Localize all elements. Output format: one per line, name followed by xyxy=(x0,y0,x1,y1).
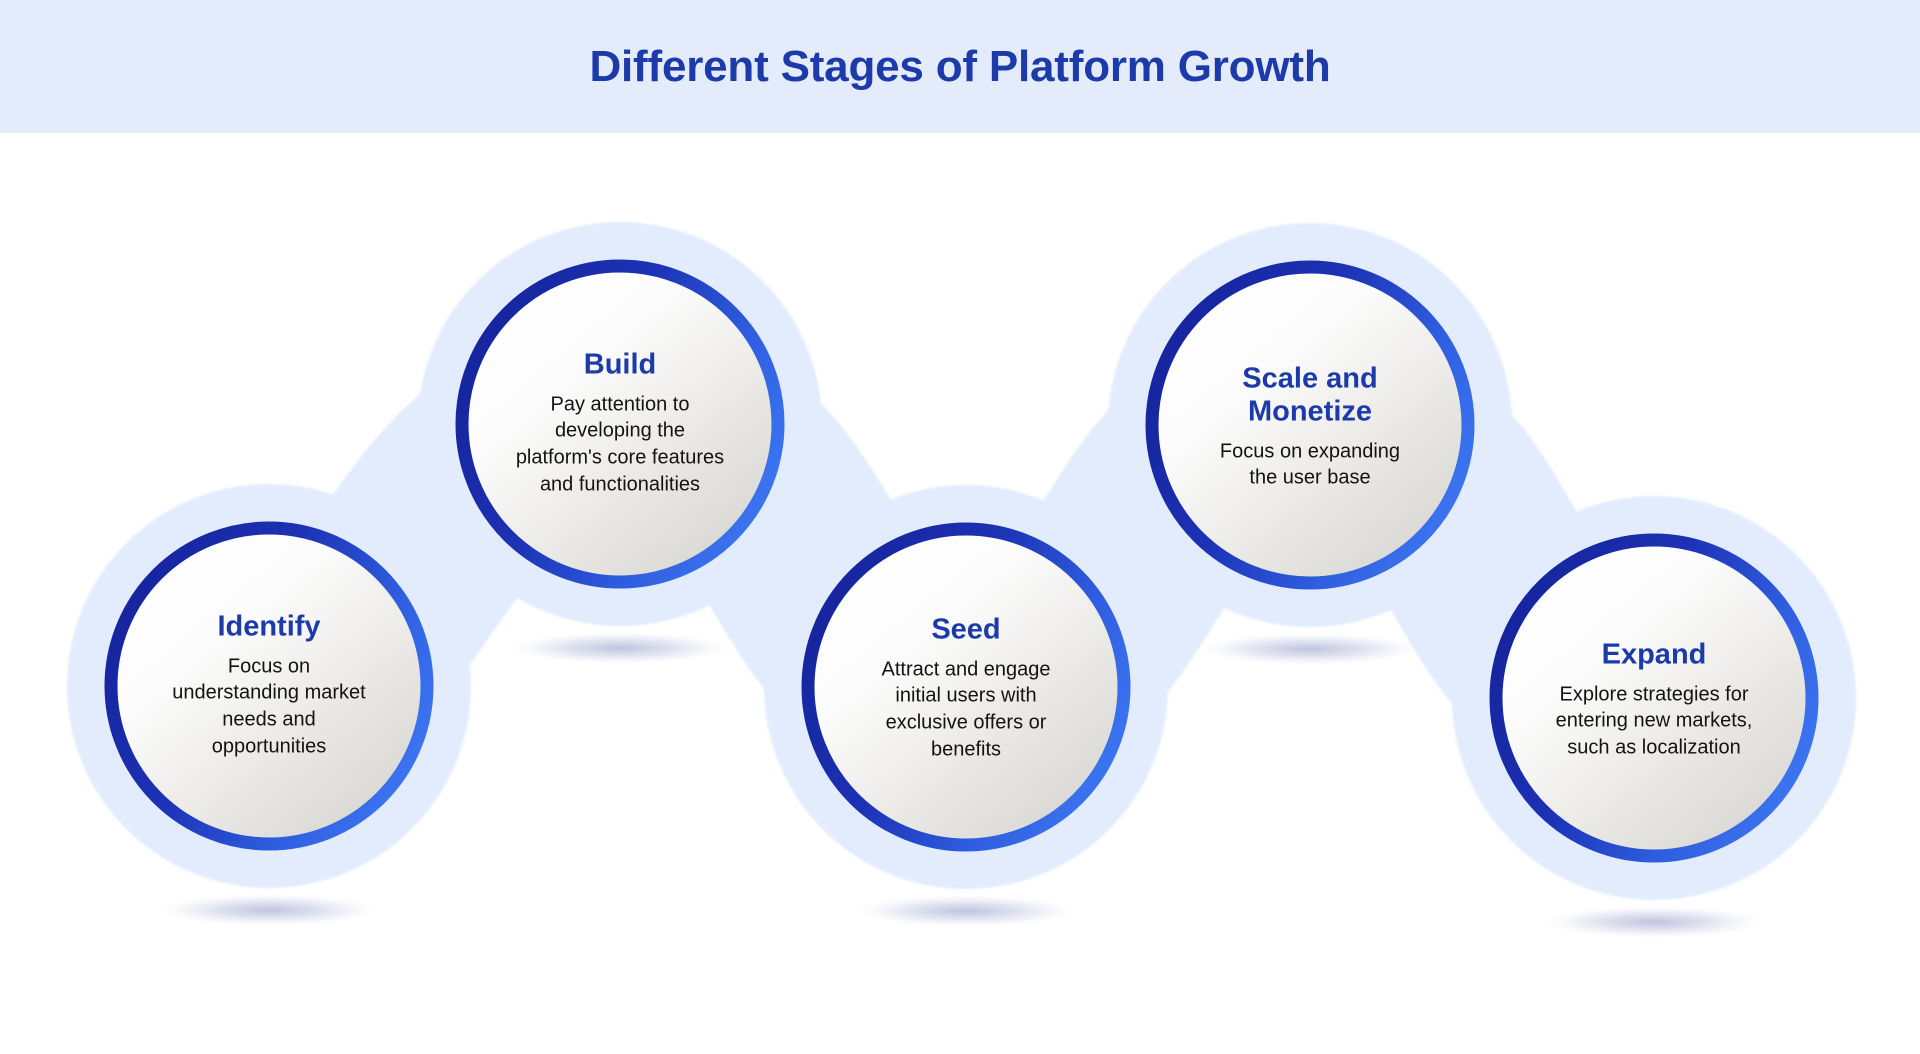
stage-circle-expand[interactable] xyxy=(1496,540,1812,856)
stages-diagram xyxy=(0,0,1920,1054)
infographic-page: Different Stages of Platform Growth xyxy=(0,0,1920,1054)
stage-circle-seed[interactable] xyxy=(808,529,1124,845)
stage-circle-scale-and-monetize[interactable] xyxy=(1152,267,1468,583)
stage-circle-build[interactable] xyxy=(462,266,778,582)
stage-circle-identify[interactable] xyxy=(111,528,427,844)
